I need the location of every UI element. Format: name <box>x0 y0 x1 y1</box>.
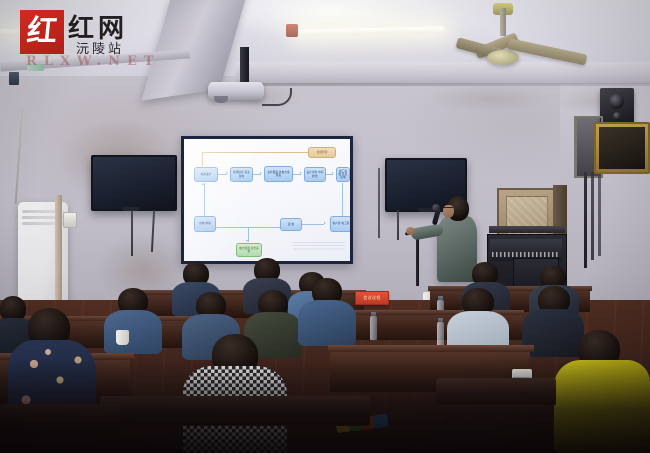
diagram-arrow <box>202 183 204 185</box>
speaker-driver <box>609 94 624 109</box>
hanging-cable <box>591 172 594 260</box>
ceiling-fan-hub <box>487 50 519 65</box>
bench-desk-top <box>328 345 534 352</box>
bottle-cap <box>438 318 443 322</box>
bench-back-rest <box>100 396 370 426</box>
bench-back-rest <box>0 404 120 438</box>
diagram-node: 用电 申请 <box>194 216 216 232</box>
diagram-arrow <box>300 172 302 174</box>
paper-cup <box>116 330 129 345</box>
diagram-connector <box>302 224 324 225</box>
microphone-capsule <box>432 204 440 211</box>
wall-tv-left <box>91 155 177 211</box>
diagram-arrow <box>260 172 262 174</box>
ac-control-panel <box>9 72 19 85</box>
diagram-node: 业扩报装 供电方案答复 <box>264 166 293 182</box>
bottle-cap <box>371 312 376 316</box>
diagram-node: 客户受 电工程 <box>330 216 350 232</box>
attendee-torso <box>298 300 356 346</box>
diagram-node-system: 电力营销 业务系统 <box>236 243 262 257</box>
speaker-tweeter <box>613 112 621 120</box>
diagram-node-note: 监督管理 <box>308 147 336 158</box>
bench-back-rest <box>436 378 556 406</box>
diagram-arrow <box>332 172 334 174</box>
water-bottle <box>370 316 377 340</box>
glasses-icon <box>442 207 453 211</box>
presenter-torso <box>437 216 477 282</box>
diagram-arrow <box>246 240 248 242</box>
diagram-connector <box>204 194 205 216</box>
projector-mount-pole <box>240 47 249 84</box>
desk-name-sign: 会议议程 <box>355 291 389 305</box>
av-rack-shelf <box>489 226 565 233</box>
hanging-cable <box>584 172 587 268</box>
projection-screen-frame: 监督管理 电源进户 现场勘查 装表接电 业扩报装 供电方案答复 设计审查 中间检… <box>181 136 353 264</box>
ceiling-soffit <box>236 62 650 84</box>
diagram-node: 现场勘查 装表接电 <box>230 167 253 182</box>
speaker-grille <box>599 127 645 169</box>
diagram-connector <box>202 152 203 166</box>
diagram-connector <box>342 183 343 219</box>
tv-cable <box>397 210 399 240</box>
diagram-node: 竣工验收 装表接电 <box>336 167 350 182</box>
microphone-stand <box>416 236 419 286</box>
diagram-node: 受 电 <box>280 218 302 231</box>
mixer-controls <box>492 252 560 257</box>
diagram-arrow <box>324 222 326 224</box>
soffit-shadow-line <box>236 83 650 86</box>
tv-cable <box>131 210 133 256</box>
loudspeaker-upper <box>600 88 634 126</box>
diagram-node: 设计审查 中间检查 <box>304 167 326 182</box>
wall-cable <box>378 168 380 238</box>
loudspeaker-lower <box>594 122 650 174</box>
diagram-arrow <box>226 172 228 174</box>
attendee-torso <box>104 310 162 354</box>
hanging-cable <box>598 176 601 256</box>
wall-power-socket <box>63 212 77 228</box>
photo-canvas: 监督管理 电源进户 现场勘查 装表接电 业扩报装 供电方案答复 设计审查 中间检… <box>0 0 650 453</box>
tube-light-endcap <box>286 24 298 37</box>
diagram-connector <box>202 152 308 153</box>
bottle-cap <box>438 296 443 300</box>
ac-brand-label <box>27 64 44 71</box>
diagram-footnote-lines <box>293 242 345 251</box>
projection-screen-surface: 监督管理 电源进户 现场勘查 装表接电 业扩报装 供电方案答复 设计审查 中间检… <box>184 139 350 261</box>
attendee-torso-yellow <box>554 360 650 453</box>
wall-pillar-strip <box>55 195 62 310</box>
diagram-node: 电源进户 <box>194 167 218 182</box>
presenter-hand <box>406 227 415 235</box>
ceiling-fan-rod <box>500 8 506 36</box>
umbrella-panel <box>372 414 388 429</box>
projector-lens <box>214 96 228 103</box>
